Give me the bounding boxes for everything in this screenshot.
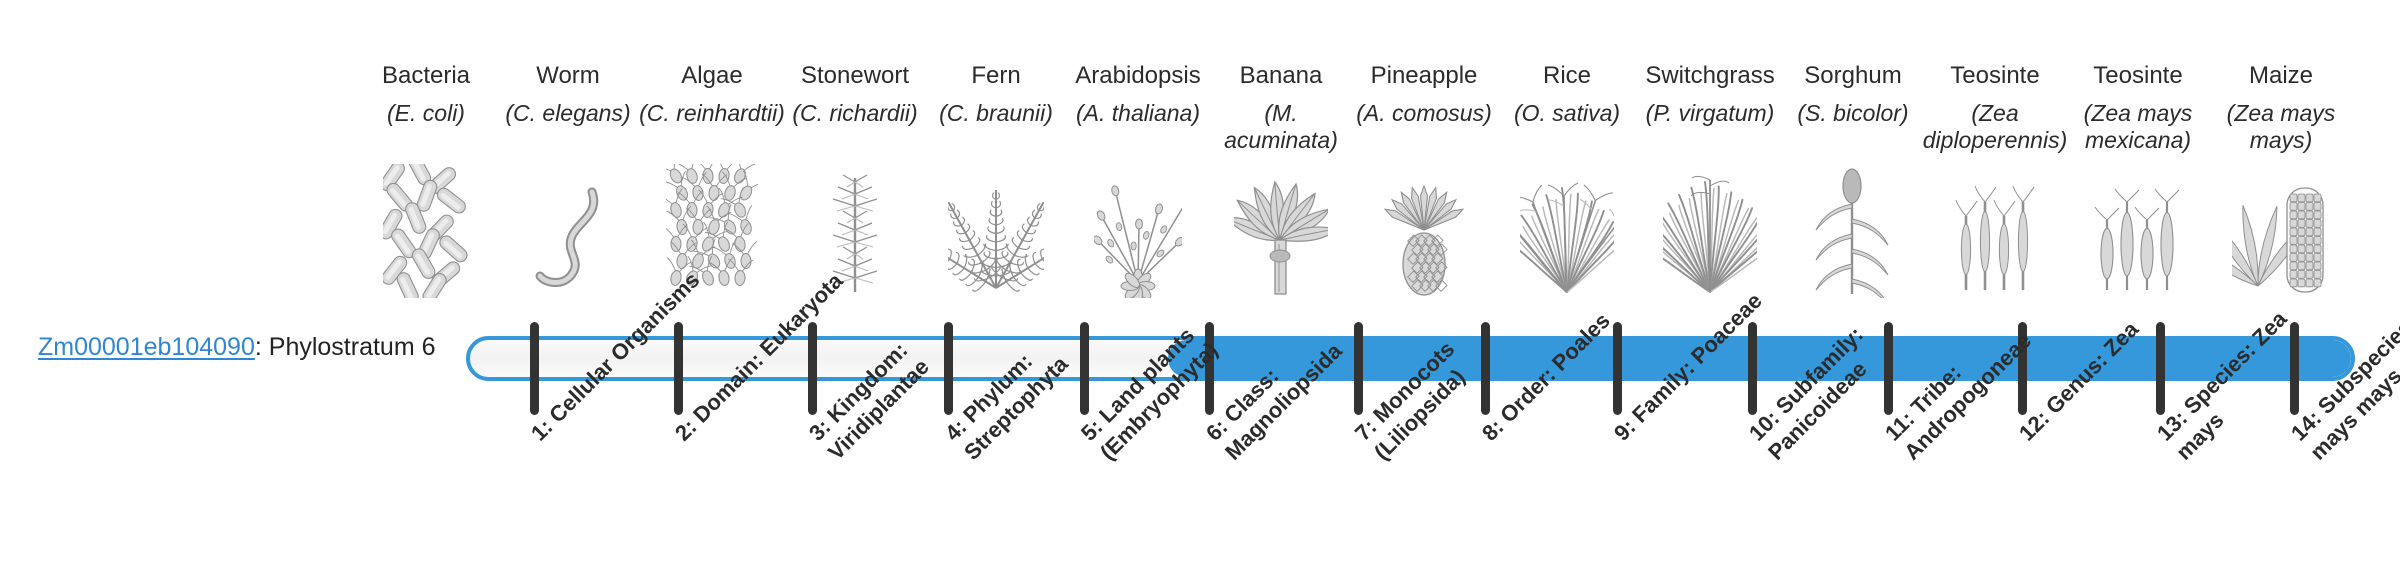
stratum-tick-10[interactable] bbox=[1748, 322, 1757, 415]
species-common-name: Maize bbox=[2206, 62, 2356, 90]
gene-label: Zm00001eb104090: Phylostratum 6 bbox=[38, 332, 436, 362]
species-latin-name: (C. richardii) bbox=[780, 100, 930, 127]
stonewort-illustration bbox=[780, 172, 930, 298]
phylostratum-figure: Zm00001eb104090: Phylostratum 6 Bacteria… bbox=[0, 0, 2400, 580]
gene-label-separator: : bbox=[255, 333, 269, 361]
species-common-name: Rice bbox=[1492, 62, 1642, 90]
species-common-name: Banana bbox=[1206, 62, 1356, 90]
species-common-name: Pineapple bbox=[1349, 62, 1499, 90]
species-latin-name: (Zea mays mexicana) bbox=[2063, 100, 2213, 154]
species-latin-name: (C. elegans) bbox=[493, 100, 643, 127]
species-latin-name: (C. reinhardtii) bbox=[637, 100, 787, 127]
phylostratum-value: Phylostratum 6 bbox=[269, 333, 436, 361]
stratum-tick-1[interactable] bbox=[530, 322, 539, 415]
algae-illustration bbox=[637, 172, 787, 298]
species-common-name: Teosinte bbox=[1920, 62, 2070, 90]
species-latin-name: (C. braunii) bbox=[921, 100, 1071, 127]
species-common-name: Worm bbox=[493, 62, 643, 90]
bacteria-illustration bbox=[351, 172, 501, 298]
maize-illustration bbox=[2206, 172, 2356, 298]
species-latin-name: (Zea diploperennis) bbox=[1920, 100, 2070, 154]
stratum-tick-13[interactable] bbox=[2156, 322, 2165, 415]
species-latin-name: (E. coli) bbox=[351, 100, 501, 127]
stratum-tick-2[interactable] bbox=[674, 322, 683, 415]
species-latin-name: (O. sativa) bbox=[1492, 100, 1642, 127]
species-latin-name: (A. thaliana) bbox=[1063, 100, 1213, 127]
species-latin-name: (A. comosus) bbox=[1349, 100, 1499, 127]
arabidopsis-illustration bbox=[1063, 172, 1213, 298]
gene-id-link[interactable]: Zm00001eb104090 bbox=[38, 333, 255, 361]
stratum-tick-3[interactable] bbox=[808, 322, 817, 415]
stratum-tick-9[interactable] bbox=[1613, 322, 1622, 415]
species-latin-name: (Zea mays mays) bbox=[2206, 100, 2356, 154]
worm-illustration bbox=[493, 172, 643, 298]
species-common-name: Fern bbox=[921, 62, 1071, 90]
species-common-name: Stonewort bbox=[780, 62, 930, 90]
species-common-name: Sorghum bbox=[1778, 62, 1928, 90]
fern-illustration bbox=[921, 172, 1071, 298]
species-latin-name: (S. bicolor) bbox=[1778, 100, 1928, 127]
species-common-name: Bacteria bbox=[351, 62, 501, 90]
stratum-name: Species: Zea mays bbox=[2171, 306, 2292, 465]
species-latin-name: (P. virgatum) bbox=[1635, 100, 1785, 127]
species-common-name: Teosinte bbox=[2063, 62, 2213, 90]
species-common-name: Algae bbox=[637, 62, 787, 90]
species-common-name: Switchgrass bbox=[1635, 62, 1785, 90]
species-latin-name: (M. acuminata) bbox=[1206, 100, 1356, 154]
species-common-name: Arabidopsis bbox=[1063, 62, 1213, 90]
